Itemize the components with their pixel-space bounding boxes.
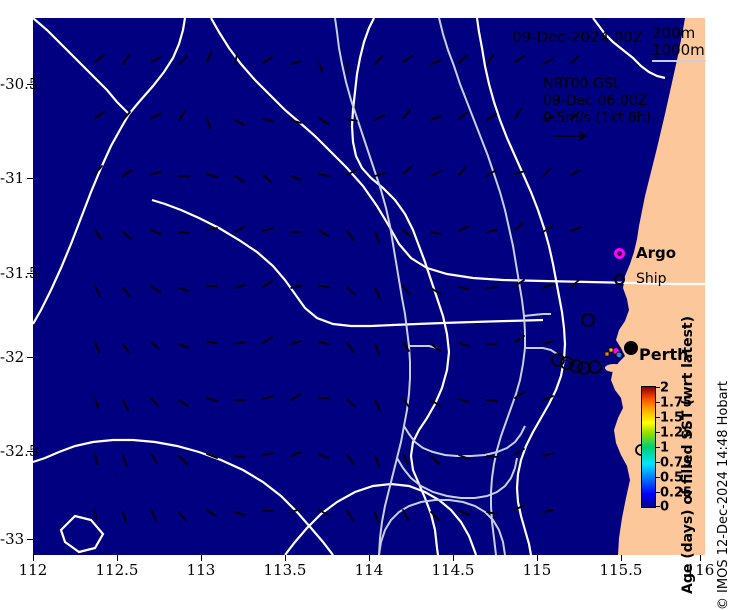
legend-ship-label: Ship — [636, 271, 667, 287]
depth-label-1000m: 1000m — [652, 41, 705, 59]
x-tick-label: 115.5 — [600, 561, 643, 579]
y-tickmark — [27, 178, 33, 179]
vector-time-label: 09-Dec 06:00Z — [543, 93, 651, 110]
y-tick-label: -33 — [0, 530, 24, 548]
rottnest-island — [605, 364, 623, 372]
ship-marker-icon — [614, 274, 625, 285]
x-tick-label: 112 — [19, 561, 48, 579]
date-stamp: 09-Dec-2024 00Z — [512, 28, 643, 46]
colorbar-tick-label: 2 — [660, 381, 669, 396]
perth-city-marker — [624, 341, 638, 355]
colorbar-gradient — [641, 386, 656, 508]
y-tick-label: -31 — [0, 169, 24, 187]
legend-argo-label: Argo — [636, 244, 676, 262]
vector-scale-label: 0.5m/s (1kt 6h) — [543, 110, 651, 127]
small-island-a — [628, 406, 634, 414]
y-tickmark — [27, 539, 33, 540]
y-tick-label: -32.5 — [0, 442, 24, 460]
y-tick-label: -31.5 — [0, 264, 24, 282]
x-tick-label: 115 — [523, 561, 552, 579]
y-tick-label: -30.5 — [0, 75, 24, 93]
x-tick-label: 113 — [187, 561, 216, 579]
colorbar-tick-label: 0 — [660, 500, 669, 515]
vector-source-label: NRT00 GSL — [543, 76, 651, 93]
current-vector-field — [95, 52, 581, 522]
garden-island — [623, 383, 629, 395]
vector-scale-arrow-icon — [553, 131, 593, 141]
x-tick-label: 113.5 — [264, 561, 307, 579]
colorbar-axis-title: Age (days) of filled SST (wrt latest) — [680, 316, 696, 594]
sst-age-map-figure: 112 112.5 113 113.5 114 114.5 115 115.5 … — [0, 0, 740, 592]
y-tick-label: -32 — [0, 348, 24, 366]
y-tickmark — [27, 357, 33, 358]
vector-legend-block: NRT00 GSL 09-Dec 06:00Z 0.5m/s (1kt 6h) — [543, 76, 651, 127]
contour-200m-group — [335, 18, 557, 555]
argo-float-markers — [605, 348, 622, 359]
x-tick-label: 114.5 — [432, 561, 475, 579]
colorbar-tick-label: 1 — [660, 441, 669, 456]
x-tick-label: 114 — [355, 561, 384, 579]
copyright-credit: © IMOS 12-Dec-2024 14:48 Hobart — [716, 381, 731, 610]
argo-marker-icon — [614, 248, 625, 259]
depth-contour-sample-line — [652, 60, 706, 62]
depth-label-200m: 200m — [652, 24, 695, 42]
x-tick-label: 112.5 — [96, 561, 139, 579]
